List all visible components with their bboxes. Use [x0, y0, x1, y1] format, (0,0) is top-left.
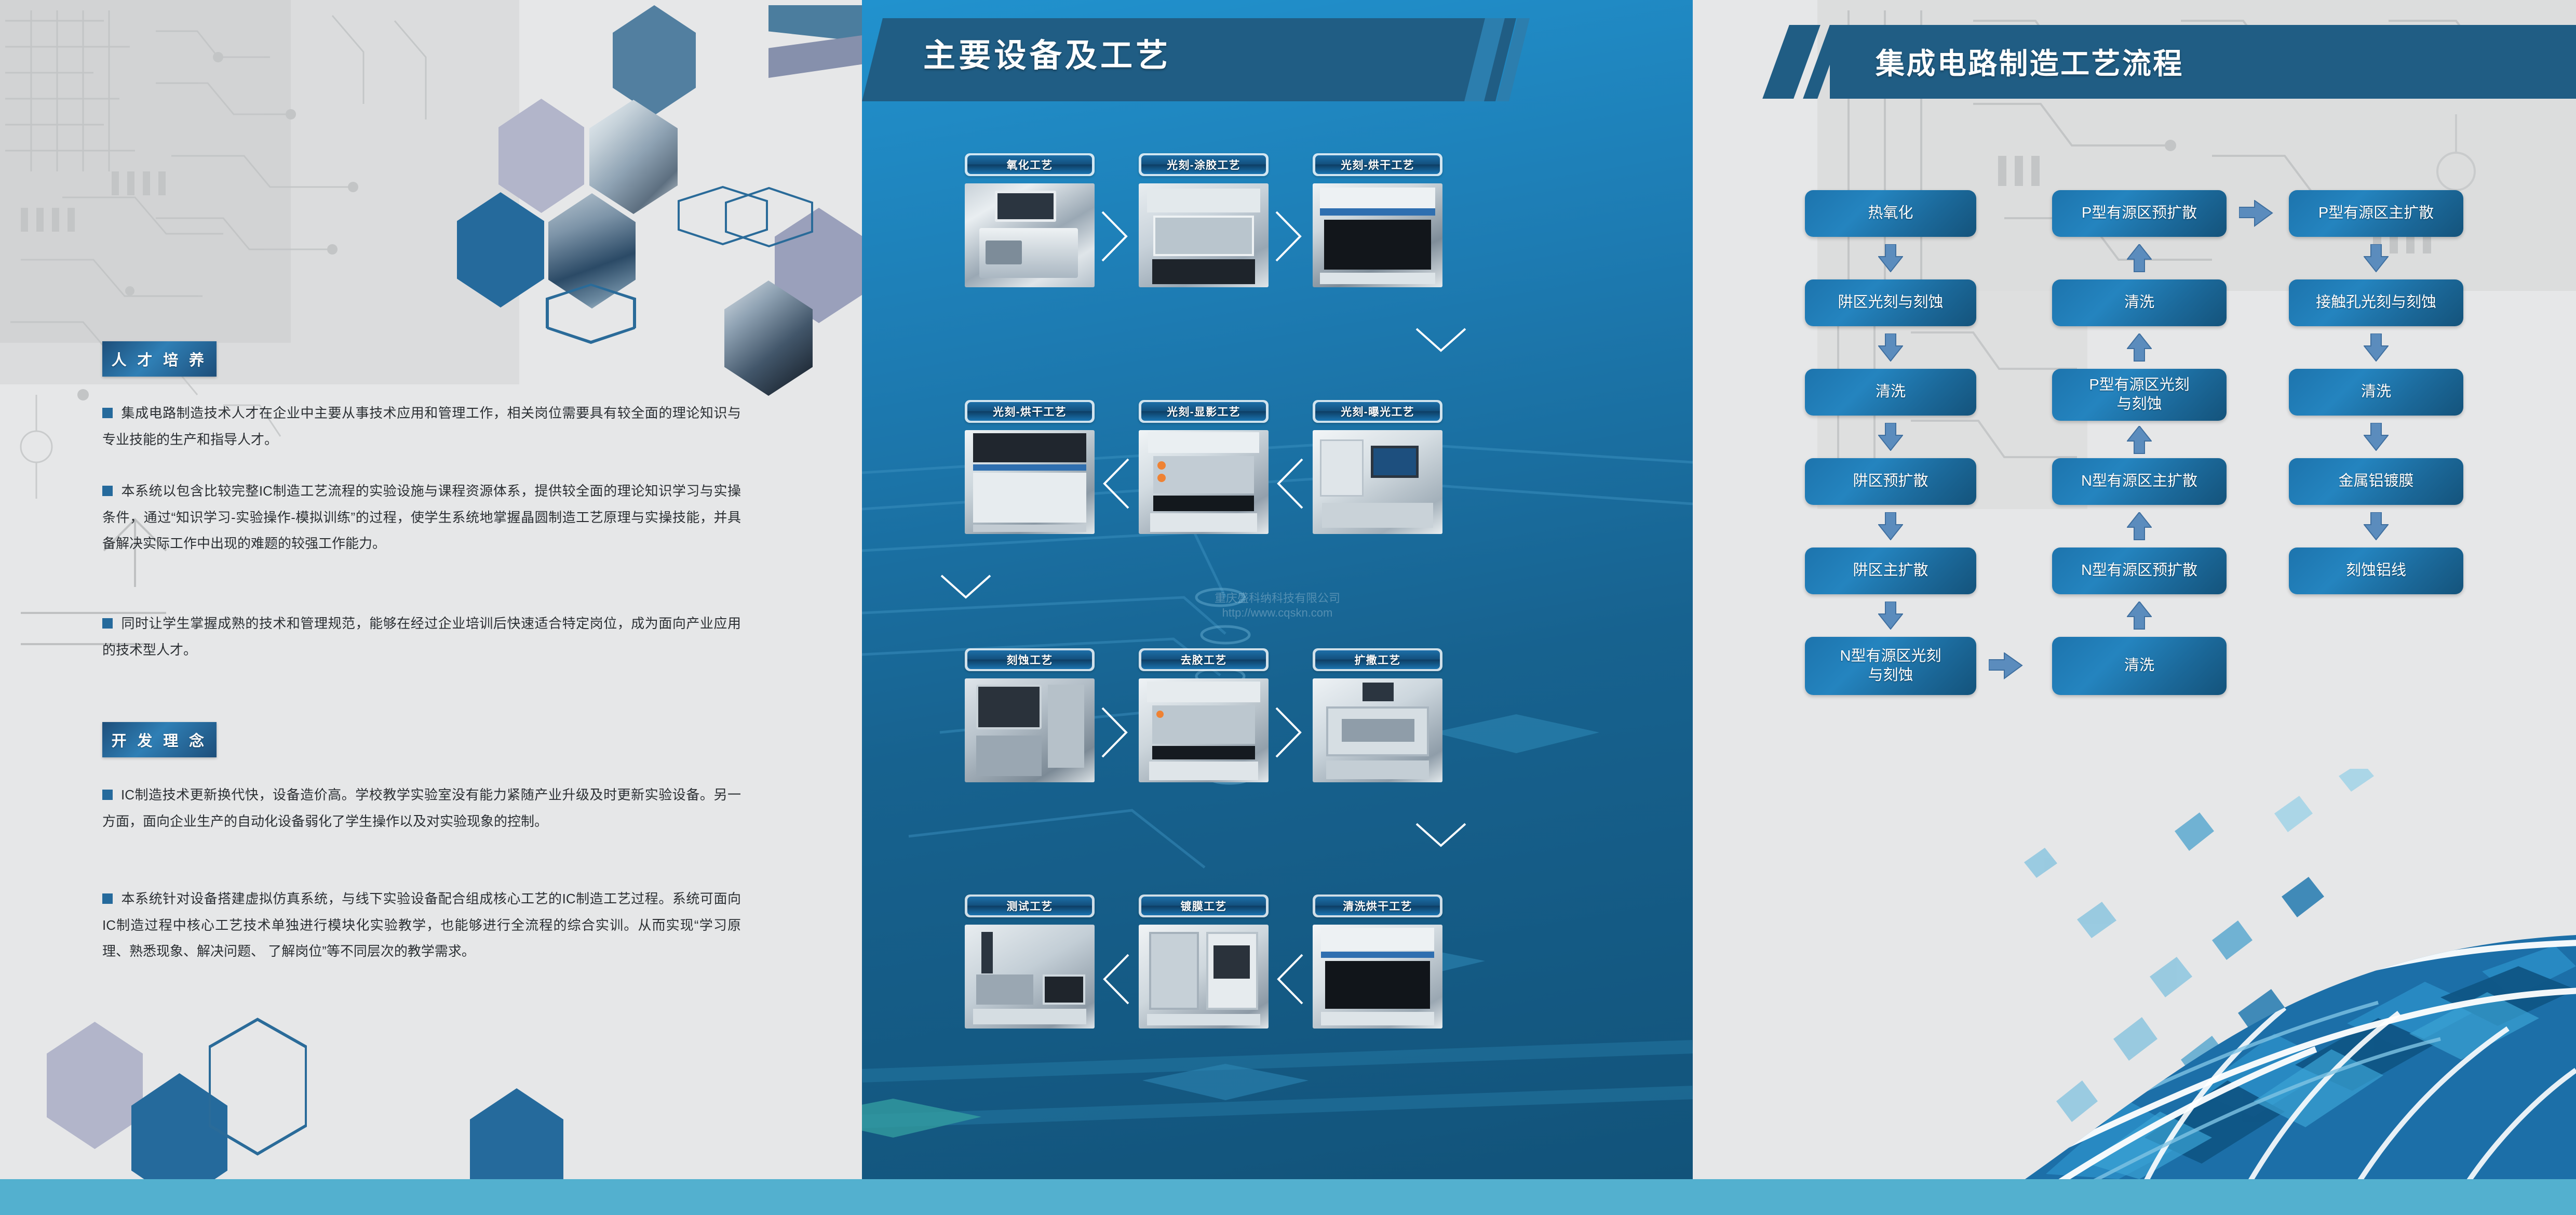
equipment-photo-strip — [1139, 678, 1269, 782]
equipment-label: 镀膜工艺 — [1141, 897, 1266, 915]
equipment-card[interactable]: 清洗烘干工艺 — [1313, 894, 1442, 1029]
arrow-up-icon — [2127, 512, 2152, 540]
flow-box[interactable]: 阱区预扩散 — [1805, 458, 1976, 505]
equipment-label-plate: 光刻-显影工艺 — [1139, 400, 1269, 423]
arrow-right-icon — [2239, 200, 2273, 227]
equipment-label-plate: 清洗烘干工艺 — [1313, 894, 1442, 917]
equipment-label: 去胶工艺 — [1141, 650, 1266, 669]
right-panel-title: 集成电路制造工艺流程 — [1876, 41, 2184, 83]
equipment-card[interactable]: 扩撒工艺 — [1313, 648, 1442, 782]
equipment-photo-oxidation — [965, 183, 1095, 287]
chevron-left-icon — [1098, 455, 1135, 512]
flow-box-label: N型有源区主扩散 — [2081, 472, 2197, 491]
equipment-label: 清洗烘干工艺 — [1315, 897, 1440, 915]
equipment-label-plate: 测试工艺 — [965, 894, 1095, 917]
hexagon-outline-bottom-icon — [208, 1013, 332, 1164]
arrow-up-icon — [2127, 333, 2152, 362]
equipment-card[interactable]: 光刻-曝光工艺 — [1313, 400, 1442, 534]
equipment-label: 光刻-曝光工艺 — [1315, 402, 1440, 421]
chevron-left-icon — [1272, 951, 1309, 1008]
flow-box-label: N型有源区光刻 与刻蚀 — [1840, 647, 1941, 685]
flow-box-label: 清洗 — [1876, 382, 1906, 402]
equipment-grid: 氧化工艺 光刻-涂胶工艺 — [862, 0, 1693, 1179]
flow-box[interactable]: 清洗 — [1805, 369, 1976, 416]
flow-box-label: 刻蚀铝线 — [2346, 561, 2406, 580]
flow-box[interactable]: 清洗 — [2052, 637, 2227, 695]
arrow-down-icon — [2364, 333, 2389, 362]
bullet-square-icon — [102, 790, 113, 800]
equipment-photo-coating — [1139, 183, 1269, 287]
equipment-label-plate: 镀膜工艺 — [1139, 894, 1269, 917]
arrow-up-icon — [2127, 244, 2152, 272]
equipment-card[interactable]: 光刻-涂胶工艺 — [1139, 153, 1269, 287]
section-title-talent-label: 人 才 培 养 — [112, 348, 208, 370]
left-panel: 人 才 培 养 集成电路制造技术人才在企业中主要从事技术应用和管理工作，相关岗位… — [0, 0, 862, 1215]
arrow-down-icon — [2364, 423, 2389, 451]
arrow-down-icon — [1878, 244, 1903, 272]
arrow-down-icon — [2364, 512, 2389, 540]
arrow-up-icon — [2127, 426, 2152, 454]
equipment-label-plate: 光刻-涂胶工艺 — [1139, 153, 1269, 176]
flow-box-label: 金属铝镀膜 — [2338, 472, 2413, 491]
equipment-photo-test — [965, 925, 1095, 1029]
bullet-square-icon — [102, 408, 113, 418]
paragraph-concept-1: IC制造技术更新换代快，设备造价高。学校教学实验室没有能力紧随产业升级及时更新实… — [102, 782, 741, 834]
section-title-concept: 开 发 理 念 — [102, 722, 217, 757]
globe-wave-graphic — [2025, 893, 2576, 1179]
arrow-down-icon — [1878, 333, 1903, 362]
equipment-label-plate: 氧化工艺 — [965, 153, 1095, 176]
equipment-label-plate: 光刻-烘干工艺 — [1313, 153, 1442, 176]
equipment-label: 光刻-涂胶工艺 — [1141, 155, 1266, 174]
flow-box[interactable]: 清洗 — [2052, 279, 2227, 326]
paragraph-talent-1-text: 集成电路制造技术人才在企业中主要从事技术应用和管理工作，相关岗位需要具有较全面的… — [102, 405, 741, 447]
equipment-card[interactable]: 光刻-显影工艺 — [1139, 400, 1269, 534]
chevron-right-icon — [1098, 208, 1135, 265]
flow-box[interactable]: N型有源区光刻 与刻蚀 — [1805, 637, 1976, 695]
flow-box[interactable]: 清洗 — [2289, 369, 2463, 416]
flow-box-label: P型有源区预扩散 — [2082, 204, 2197, 223]
equipment-photo-diffusion — [1313, 678, 1442, 782]
flow-box[interactable]: N型有源区预扩散 — [2052, 548, 2227, 594]
flow-box-label: 清洗 — [2124, 293, 2154, 312]
equipment-label-plate: 光刻-曝光工艺 — [1313, 400, 1442, 423]
paragraph-talent-2-text: 本系统以包含比较完整IC制造工艺流程的实验设施与课程资源体系，提供较全面的理论知… — [102, 483, 741, 551]
flow-box[interactable]: 阱区主扩散 — [1805, 548, 1976, 594]
flow-box-label: 阱区预扩散 — [1853, 472, 1928, 491]
equipment-card[interactable]: 刻蚀工艺 — [965, 648, 1095, 782]
watermark-url: http://www.cqskn.com — [1132, 606, 1423, 620]
paragraph-talent-1: 集成电路制造技术人才在企业中主要从事技术应用和管理工作，相关岗位需要具有较全面的… — [102, 400, 741, 452]
flow-box-label: 热氧化 — [1868, 204, 1913, 223]
bullet-square-icon — [102, 893, 113, 904]
chevron-left-icon — [1098, 951, 1135, 1008]
watermark: 重庆盛科纳科技有限公司 http://www.cqskn.com — [1132, 591, 1423, 620]
arrow-up-icon — [2127, 602, 2152, 630]
chevron-down-icon — [1412, 820, 1469, 856]
equipment-photo-etch — [965, 678, 1095, 782]
bottom-accent-bar — [0, 1179, 2576, 1215]
equipment-card[interactable]: 镀膜工艺 — [1139, 894, 1269, 1029]
flow-box[interactable]: 热氧化 — [1805, 190, 1976, 237]
equipment-label: 扩撒工艺 — [1315, 650, 1440, 669]
equipment-card[interactable]: 去胶工艺 — [1139, 648, 1269, 782]
equipment-label: 测试工艺 — [967, 897, 1092, 915]
equipment-photo-clean-dry — [1313, 925, 1442, 1029]
equipment-label: 光刻-烘干工艺 — [1315, 155, 1440, 174]
equipment-card[interactable]: 氧化工艺 — [965, 153, 1095, 287]
section-title-concept-label: 开 发 理 念 — [112, 729, 208, 751]
arrow-down-icon — [2364, 244, 2389, 272]
middle-panel: 主要设备及工艺 氧化工艺 光刻-涂胶工艺 — [862, 0, 1693, 1179]
equipment-photo-bake-2 — [965, 430, 1095, 534]
flow-box-label: P型有源区光刻 与刻蚀 — [2089, 376, 2189, 414]
arrow-right-icon — [1989, 652, 2023, 679]
chevron-left-icon — [1272, 455, 1309, 512]
arrow-down-icon — [1878, 512, 1903, 540]
right-panel: 集成电路制造工艺流程 — [1693, 0, 2576, 1179]
equipment-label-plate: 光刻-烘干工艺 — [965, 400, 1095, 423]
chevron-right-icon — [1272, 704, 1309, 761]
poster-root: 人 才 培 养 集成电路制造技术人才在企业中主要从事技术应用和管理工作，相关岗位… — [0, 0, 2576, 1215]
flow-box[interactable]: P型有源区光刻 与刻蚀 — [2052, 369, 2227, 421]
equipment-card[interactable]: 光刻-烘干工艺 — [1313, 153, 1442, 287]
arrow-down-icon — [1878, 423, 1903, 451]
flow-box-label: 清洗 — [2124, 656, 2154, 675]
paragraph-talent-3: 同时让学生掌握成熟的技术和管理规范，能够在经过企业培训后快速适合特定岗位，成为面… — [102, 610, 741, 663]
flow-box[interactable]: 接触孔光刻与刻蚀 — [2289, 279, 2463, 326]
paragraph-talent-3-text: 同时让学生掌握成熟的技术和管理规范，能够在经过企业培训后快速适合特定岗位，成为面… — [102, 616, 741, 658]
equipment-photo-bake — [1313, 183, 1442, 287]
paragraph-talent-2: 本系统以包含比较完整IC制造工艺流程的实验设施与课程资源体系，提供较全面的理论知… — [102, 478, 741, 557]
equipment-label-plate: 扩撒工艺 — [1313, 648, 1442, 671]
flow-box-label: 清洗 — [2361, 382, 2391, 402]
flow-box-label: P型有源区主扩散 — [2318, 204, 2434, 223]
hexagon-lavender-bottom — [47, 1022, 143, 1149]
flow-box-label: 阱区主扩散 — [1853, 561, 1928, 580]
flow-box[interactable]: 阱区光刻与刻蚀 — [1805, 279, 1976, 326]
flow-box[interactable]: 金属铝镀膜 — [2289, 458, 2463, 505]
chevron-right-icon — [1272, 208, 1309, 265]
equipment-photo-develop — [1139, 430, 1269, 534]
flow-box[interactable]: 刻蚀铝线 — [2289, 548, 2463, 594]
chevron-right-icon — [1098, 704, 1135, 761]
paragraph-concept-2-text: 本系统针对设备搭建虚拟仿真系统，与线下实验设备配合组成核心工艺的IC制造工艺过程… — [102, 891, 741, 959]
equipment-label-plate: 刻蚀工艺 — [965, 648, 1095, 671]
paragraph-concept-2: 本系统针对设备搭建虚拟仿真系统，与线下实验设备配合组成核心工艺的IC制造工艺过程… — [102, 886, 741, 965]
flow-box[interactable]: P型有源区预扩散 — [2052, 190, 2227, 237]
chevron-down-icon — [937, 571, 994, 608]
equipment-label: 氧化工艺 — [967, 155, 1092, 174]
bullet-square-icon — [102, 486, 113, 496]
equipment-label: 光刻-烘干工艺 — [967, 402, 1092, 421]
equipment-label: 光刻-显影工艺 — [1141, 402, 1266, 421]
watermark-company: 重庆盛科纳科技有限公司 — [1132, 591, 1423, 606]
equipment-photo-exposure — [1313, 430, 1442, 534]
flow-box-label: 阱区光刻与刻蚀 — [1838, 293, 1943, 312]
arrow-down-icon — [1878, 602, 1903, 630]
flow-box-label: N型有源区预扩散 — [2081, 561, 2197, 580]
section-title-talent: 人 才 培 养 — [102, 341, 217, 377]
equipment-photo-coating-metal — [1139, 925, 1269, 1029]
bullet-square-icon — [102, 618, 113, 629]
equipment-label-plate: 去胶工艺 — [1139, 648, 1269, 671]
paragraph-concept-1-text: IC制造技术更新换代快，设备造价高。学校教学实验室没有能力紧随产业升级及时更新实… — [102, 787, 741, 829]
flow-box-label: 接触孔光刻与刻蚀 — [2316, 293, 2436, 312]
equipment-card[interactable]: 测试工艺 — [965, 894, 1095, 1029]
flow-box[interactable]: P型有源区主扩散 — [2289, 190, 2463, 237]
equipment-label: 刻蚀工艺 — [967, 650, 1092, 669]
equipment-card[interactable]: 光刻-烘干工艺 — [965, 400, 1095, 534]
flow-box[interactable]: N型有源区主扩散 — [2052, 458, 2227, 505]
chevron-down-icon — [1412, 325, 1469, 361]
